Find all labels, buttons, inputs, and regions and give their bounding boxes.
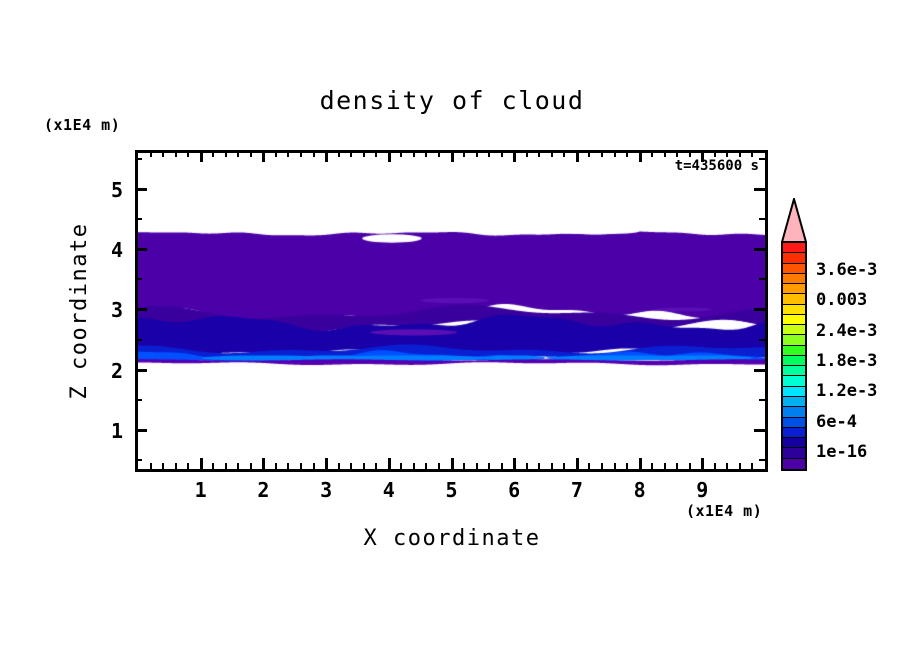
y-tick-label: 1 [93,419,123,443]
x-tick-minor [375,463,377,469]
x-tick-minor [538,463,540,469]
y-tick-minor [136,278,142,280]
x-tick-minor-top [438,151,440,157]
x-tick-minor [501,463,503,469]
x-tick-major-top [576,151,579,162]
y-tick-major [136,308,147,311]
x-tick-minor-top [689,151,691,157]
y-tick-minor-right [759,218,765,220]
x-tick-label: 6 [494,478,534,502]
y-tick-major-right [754,248,765,251]
y-tick-minor-right [759,158,765,160]
colorbar-band [783,366,805,376]
x-tick-minor-top [551,151,553,157]
colorbar-tick-label: 1e-16 [816,442,867,462]
colorbar-band [783,253,805,263]
x-tick-minor [162,463,164,469]
x-tick-minor [300,463,302,469]
colorbar-band [783,294,805,304]
colorbar-tick-label: 6e-4 [816,412,857,432]
x-tick-minor [588,463,590,469]
colorbar-band [783,407,805,417]
x-tick-minor [689,463,691,469]
colorbar-band [783,459,805,469]
colorbar-band [783,387,805,397]
y-tick-major-right [754,429,765,432]
x-tick-minor-top [413,151,415,157]
y-tick-minor [136,459,142,461]
x-tick-minor [150,463,152,469]
colorbar-tick-label: 0.003 [816,290,867,310]
x-tick-minor-top [338,151,340,157]
y-tick-minor-right [759,339,765,341]
x-tick-minor [350,463,352,469]
x-tick-label: 1 [181,478,221,502]
x-tick-minor-top [313,151,315,157]
y-tick-major [136,429,147,432]
x-tick-minor-top [488,151,490,157]
x-tick-major [701,458,704,469]
y-tick-minor-right [759,278,765,280]
x-tick-minor [463,463,465,469]
x-tick-minor [664,463,666,469]
x-tick-minor-top [526,151,528,157]
x-tick-minor [363,463,365,469]
x-tick-major-top [451,151,454,162]
x-tick-minor-top [400,151,402,157]
x-tick-minor [563,463,565,469]
x-tick-minor-top [363,151,365,157]
x-tick-minor [551,463,553,469]
x-tick-minor [601,463,603,469]
x-tick-minor-top [300,151,302,157]
x-tick-major [262,458,265,469]
x-tick-major-top [639,151,642,162]
x-tick-minor-top [463,151,465,157]
y-tick-major [136,369,147,372]
colorbar-band [783,274,805,284]
colorbar-band [783,376,805,386]
colorbar-band [783,243,805,253]
x-tick-minor [225,463,227,469]
x-tick-minor [651,463,653,469]
x-tick-minor [476,463,478,469]
x-tick-major-top [200,151,203,162]
x-tick-minor-top [425,151,427,157]
x-tick-label: 7 [557,478,597,502]
x-tick-minor [676,463,678,469]
y-tick-label: 4 [93,238,123,262]
colorbar-band [783,264,805,274]
x-tick-minor-top [676,151,678,157]
x-tick-minor [526,463,528,469]
x-tick-label: 9 [682,478,722,502]
x-tick-minor-top [375,151,377,157]
x-tick-minor-top [175,151,177,157]
x-tick-minor [175,463,177,469]
y-tick-minor-right [759,399,765,401]
x-tick-minor-top [476,151,478,157]
x-tick-minor [275,463,277,469]
x-tick-minor [739,463,741,469]
x-tick-minor [726,463,728,469]
x-tick-label: 2 [243,478,283,502]
x-tick-minor-top [250,151,252,157]
x-tick-major [513,458,516,469]
colorbar-band [783,438,805,448]
colorbar-gradient-bar [781,241,807,471]
colorbar-band [783,397,805,407]
colorbar-tick-label: 1.2e-3 [816,381,877,401]
y-tick-minor-right [759,459,765,461]
x-tick-minor-top [237,151,239,157]
x-tick-minor [425,463,427,469]
x-tick-minor-top [187,151,189,157]
x-tick-major [325,458,328,469]
x-tick-minor [751,463,753,469]
x-tick-minor [400,463,402,469]
x-tick-label: 4 [369,478,409,502]
x-tick-minor-top [626,151,628,157]
x-tick-major [576,458,579,469]
x-tick-minor [212,463,214,469]
x-tick-minor-top [212,151,214,157]
x-tick-minor-top [739,151,741,157]
y-tick-label: 2 [93,359,123,383]
x-tick-minor-top [150,151,152,157]
x-tick-minor [614,463,616,469]
y-tick-major-right [754,369,765,372]
x-tick-minor [626,463,628,469]
y-tick-major-right [754,308,765,311]
x-tick-minor [714,463,716,469]
colorbar-band [783,448,805,458]
y-tick-minor [136,158,142,160]
x-tick-minor [438,463,440,469]
y-tick-major-right [754,188,765,191]
colorbar-band [783,346,805,356]
y-tick-minor [136,218,142,220]
colorbar-band [783,315,805,325]
colorbar-arrow-cap [781,198,807,243]
x-tick-minor-top [664,151,666,157]
x-tick-minor [413,463,415,469]
x-tick-minor [287,463,289,469]
x-tick-minor-top [601,151,603,157]
x-tick-minor [187,463,189,469]
x-tick-minor-top [714,151,716,157]
colorbar-band [783,356,805,366]
x-tick-minor-top [275,151,277,157]
plot-area: t=435600 s [135,150,768,472]
x-tick-minor [488,463,490,469]
x-tick-label: 5 [432,478,472,502]
x-tick-major-top [388,151,391,162]
x-tick-label: 8 [620,478,660,502]
x-tick-label: 3 [306,478,346,502]
x-tick-major [388,458,391,469]
x-tick-minor-top [225,151,227,157]
density-field-canvas [138,153,765,469]
x-tick-minor-top [501,151,503,157]
x-tick-minor-top [538,151,540,157]
colorbar-tick-label: 1.8e-3 [816,351,877,371]
x-tick-major [451,458,454,469]
colorbar-band [783,418,805,428]
x-tick-major [639,458,642,469]
y-tick-major [136,188,147,191]
y-tick-label: 5 [93,178,123,202]
x-tick-minor-top [162,151,164,157]
colorbar-band [783,284,805,294]
x-tick-minor-top [287,151,289,157]
x-tick-minor-top [588,151,590,157]
x-tick-minor-top [614,151,616,157]
colorbar-band [783,305,805,315]
x-axis-title: X coordinate [0,528,904,550]
contour-plot-figure: density of cloud (x1E4 m) (x1E4 m) X coo… [0,0,904,654]
x-tick-minor [313,463,315,469]
y-tick-label: 3 [93,298,123,322]
x-tick-minor [338,463,340,469]
colorbar-tick-label: 2.4e-3 [816,321,877,341]
x-tick-major-top [513,151,516,162]
x-axis-units-label: (x1E4 m) [686,504,762,519]
x-tick-major-top [262,151,265,162]
colorbar-band [783,428,805,438]
x-tick-minor-top [651,151,653,157]
time-annotation: t=435600 s [675,158,759,174]
y-axis-title: Z coordinate [69,201,91,421]
colorbar-band [783,335,805,345]
x-tick-major [200,458,203,469]
y-axis-units-label: (x1E4 m) [44,118,120,133]
y-tick-minor [136,339,142,341]
x-tick-minor-top [751,151,753,157]
x-tick-minor-top [563,151,565,157]
x-tick-major-top [325,151,328,162]
y-tick-major [136,248,147,251]
x-tick-minor-top [726,151,728,157]
colorbar-band [783,325,805,335]
page-title: density of cloud [0,88,904,113]
x-tick-minor [250,463,252,469]
y-tick-minor [136,399,142,401]
x-tick-minor-top [350,151,352,157]
x-tick-minor [237,463,239,469]
colorbar-tick-label: 3.6e-3 [816,260,877,280]
